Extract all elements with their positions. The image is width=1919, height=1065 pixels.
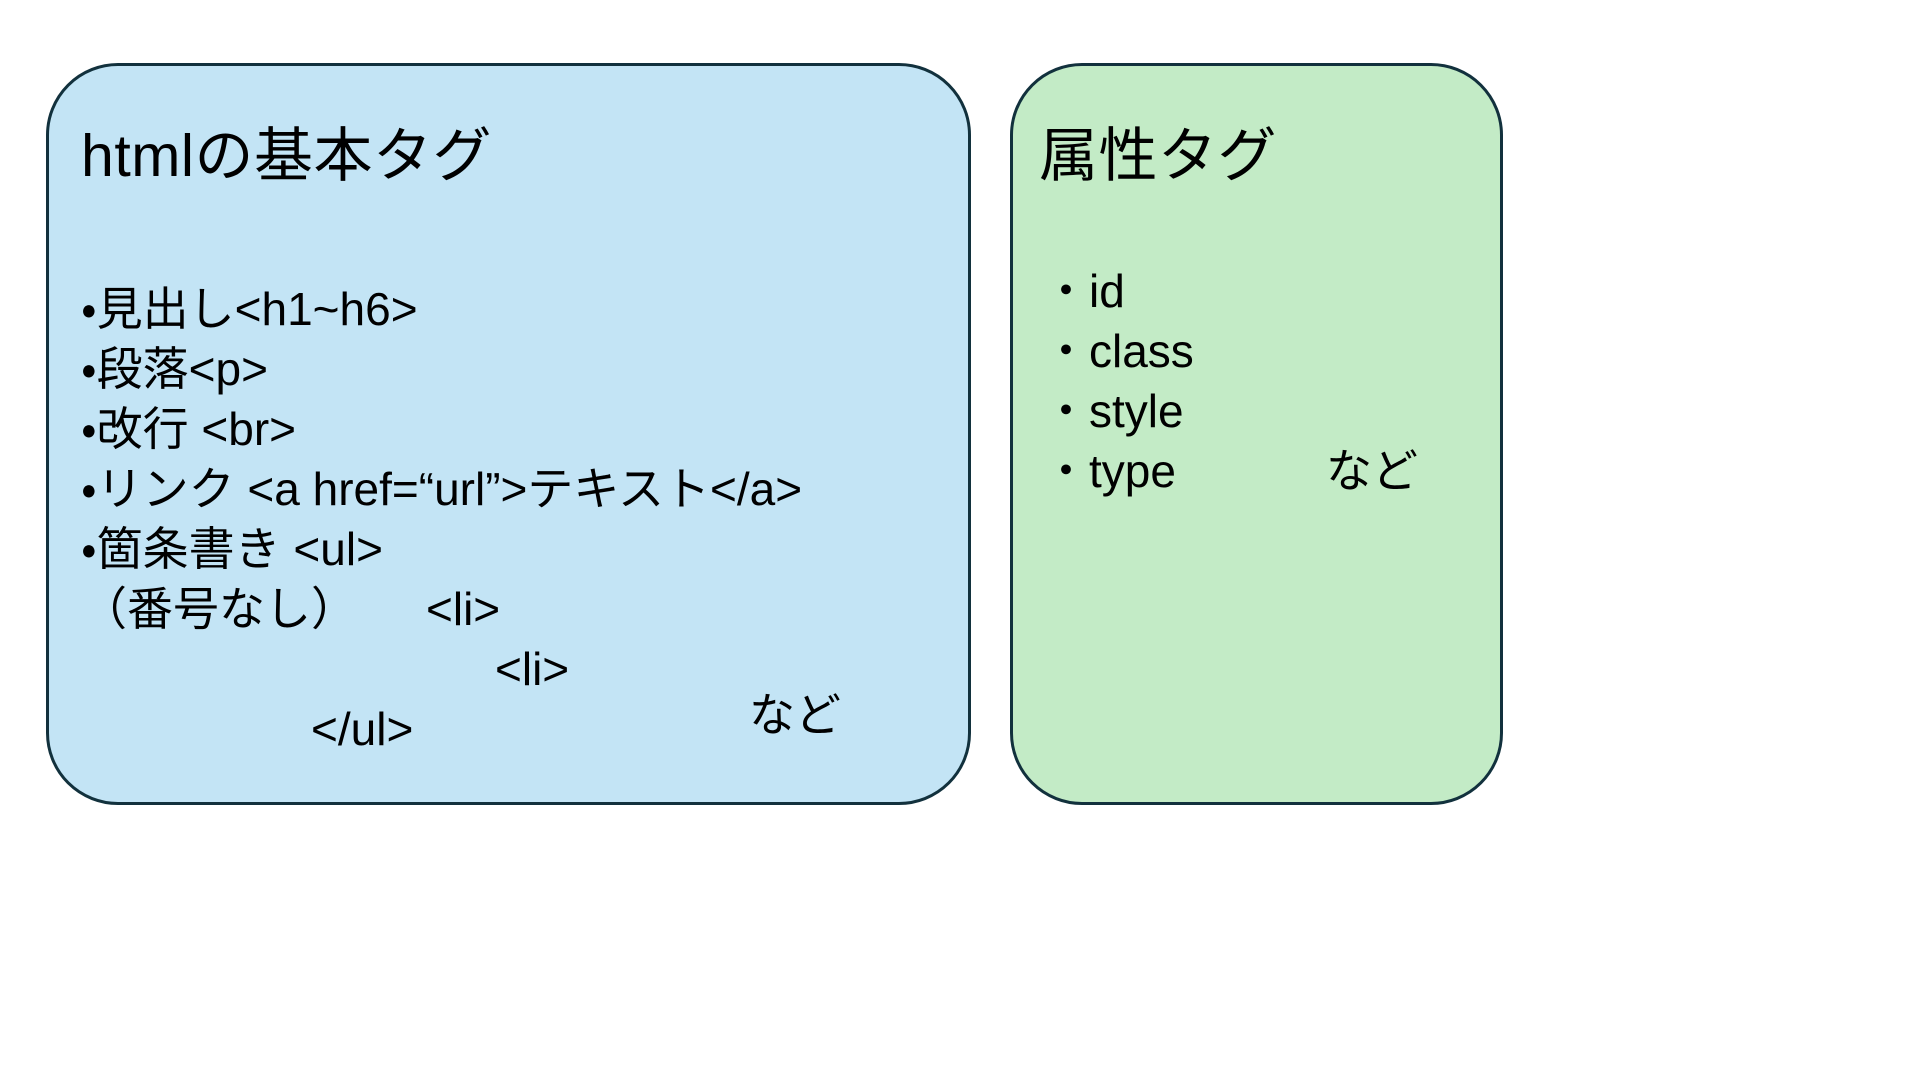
html-basic-tags-trailing-note: など: [749, 685, 841, 745]
html-basic-tags-box[interactable]: htmlの基本タグ ・見出し<h1~h6> ・段落<p> ・改行 <br> ・リ…: [46, 63, 971, 805]
list-item: ・改行 <br>: [81, 399, 941, 459]
slide-canvas: htmlの基本タグ ・見出し<h1~h6> ・段落<p> ・改行 <br> ・リ…: [0, 0, 1919, 1065]
html-basic-tags-title: htmlの基本タグ: [81, 124, 492, 189]
list-item: （番号なし） <li>: [81, 579, 941, 639]
attribute-tags-title: 属性タグ: [1039, 124, 1277, 189]
list-item-label: ・type: [1043, 445, 1176, 497]
list-item: ・箇条書き <ul>: [81, 519, 941, 579]
list-item-with-note: ・typeなど: [1043, 441, 1483, 501]
list-item: ・段落<p>: [81, 339, 941, 399]
attribute-tags-trailing-note: など: [1326, 441, 1418, 501]
list-item: ・class: [1043, 321, 1483, 381]
list-item: ・style: [1043, 381, 1483, 441]
attribute-tags-box[interactable]: 属性タグ ・id ・class ・style ・typeなど: [1010, 63, 1503, 805]
list-item: ・リンク <a href=“url”>テキスト</a>: [81, 459, 941, 519]
list-item: ・見出し<h1~h6>: [81, 279, 941, 339]
list-item: ・id: [1043, 261, 1483, 321]
attribute-tags-list: ・id ・class ・style ・typeなど: [1043, 261, 1483, 501]
